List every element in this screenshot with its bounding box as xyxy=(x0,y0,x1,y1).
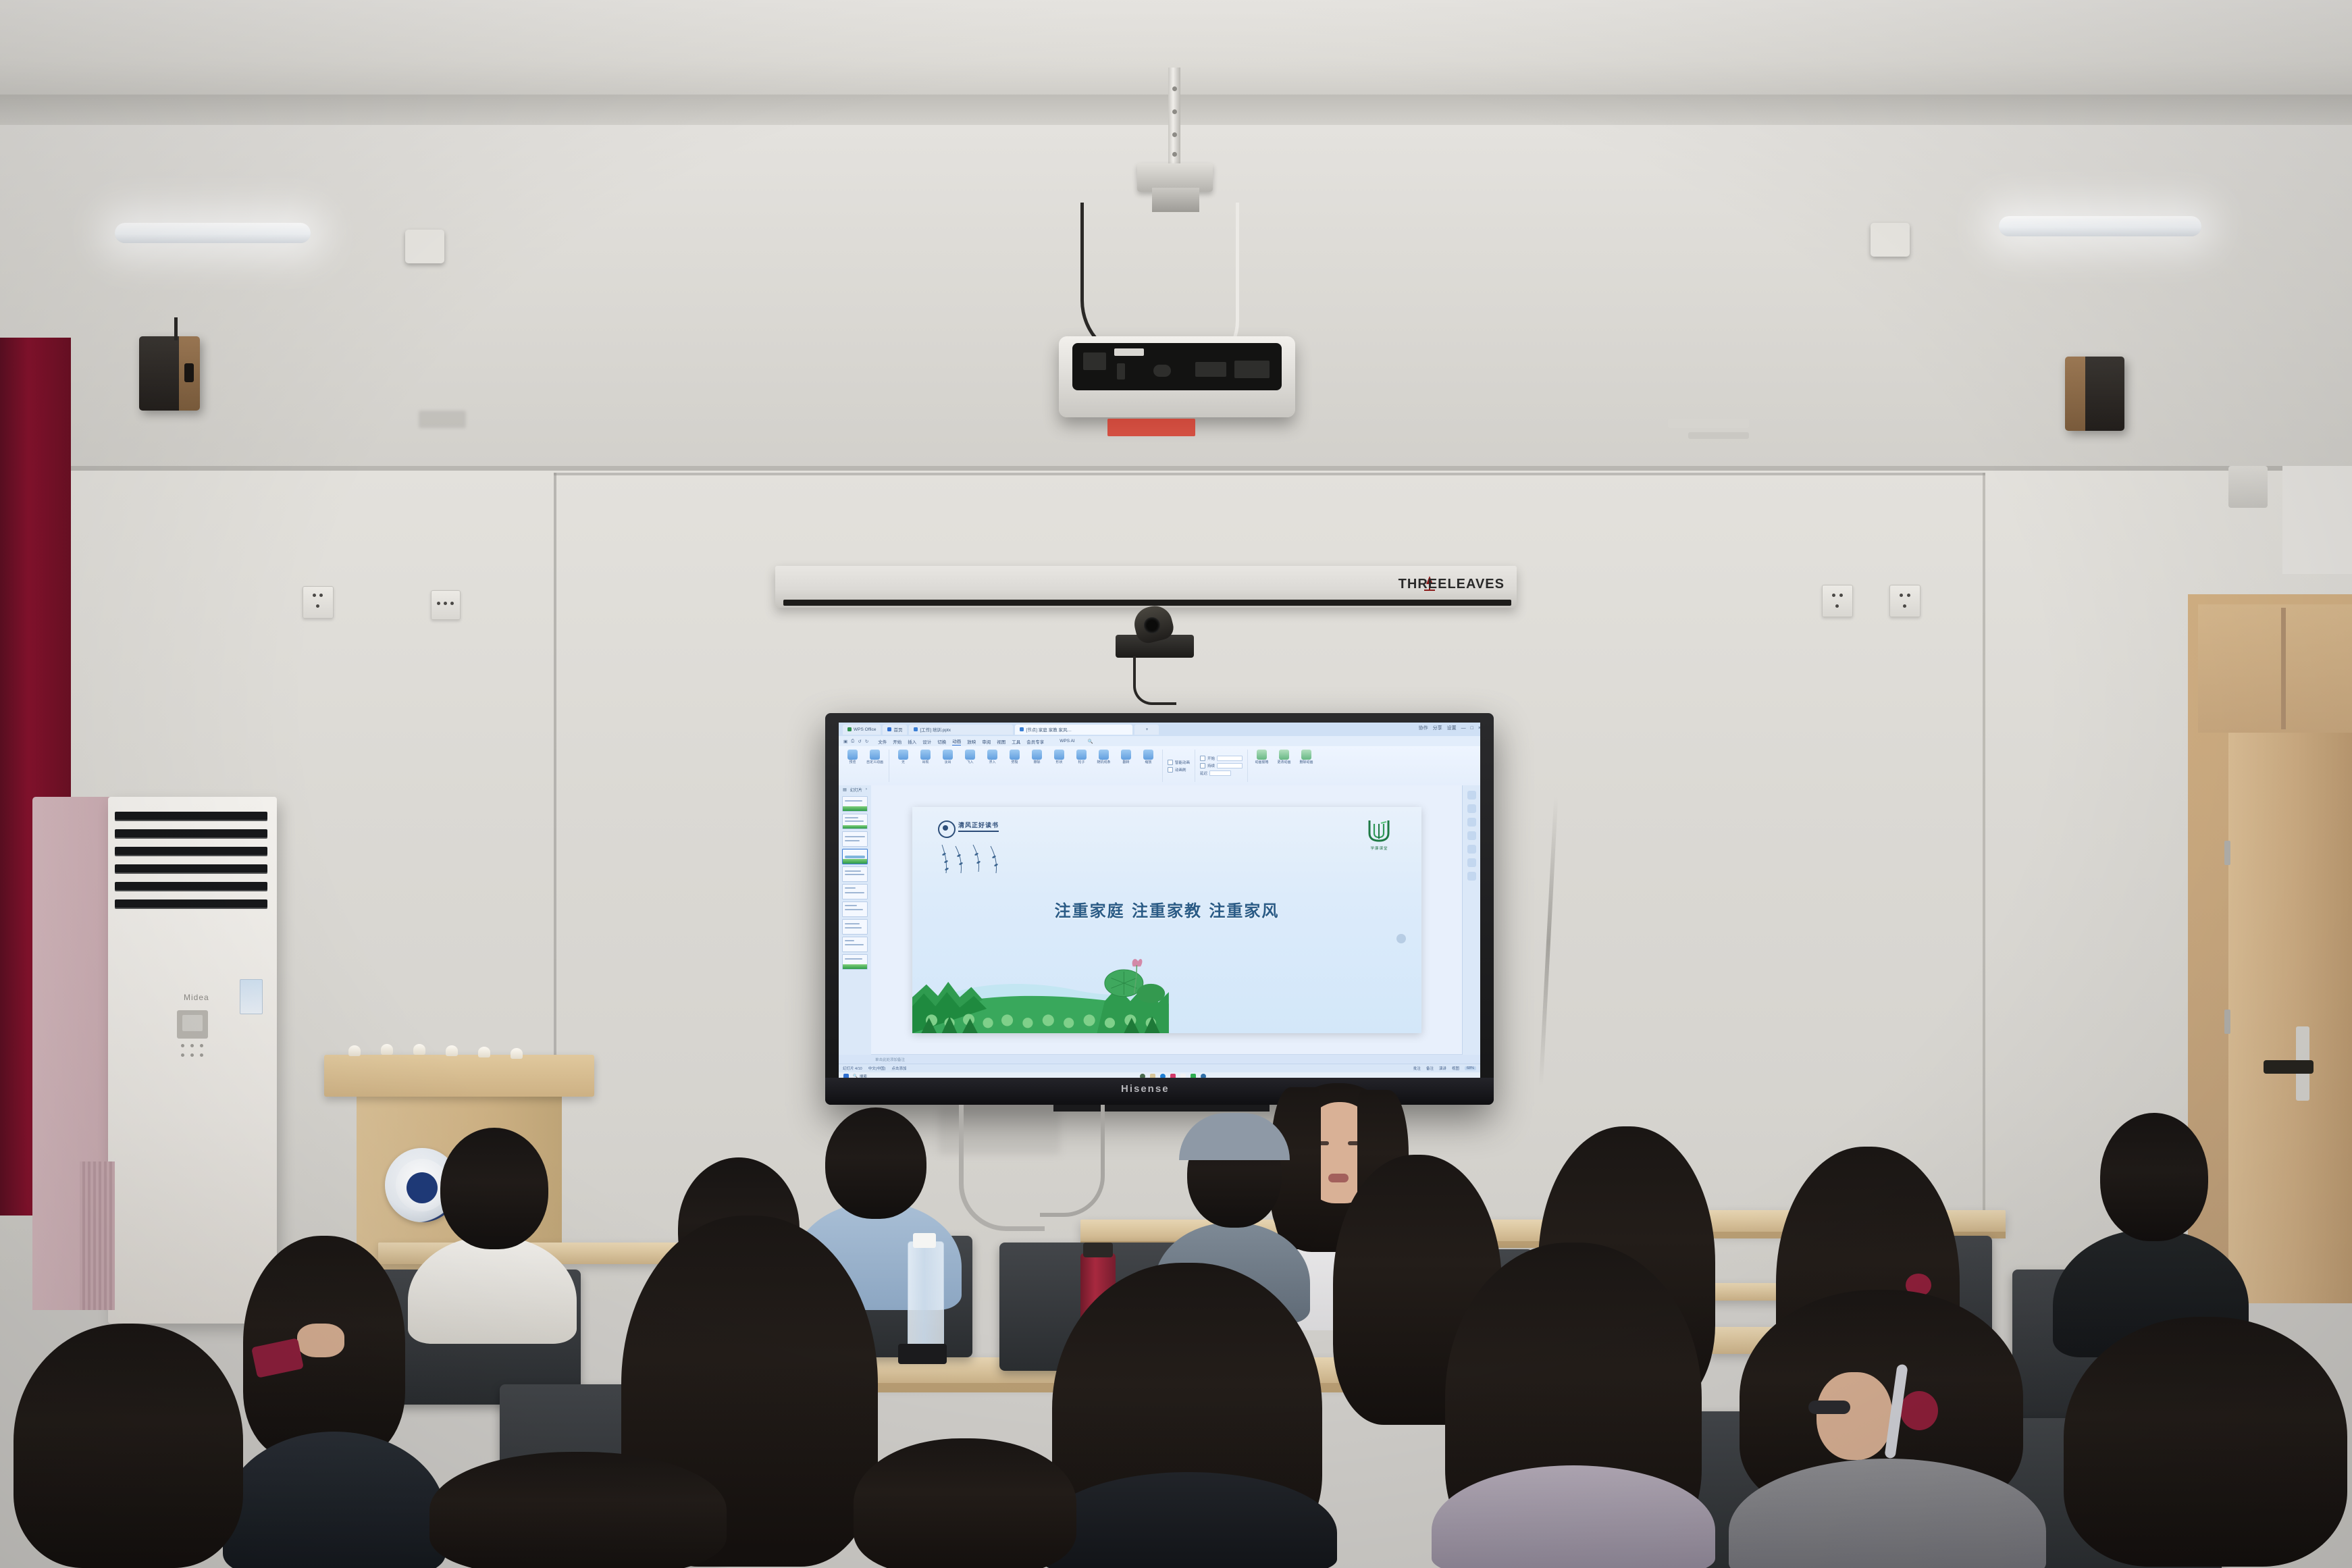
outline-icon[interactable]: ▤ xyxy=(843,787,847,792)
ac-button-temp-down[interactable] xyxy=(181,1053,184,1057)
willow-branches-icon xyxy=(938,843,1019,874)
floatin-icon xyxy=(987,750,997,760)
speaker-grille xyxy=(2085,357,2124,431)
slide-thumbnail-selected[interactable] xyxy=(842,849,868,864)
ribbon-label: 智能动画 xyxy=(1175,760,1190,765)
ribbon-label: 自定义动画 xyxy=(866,761,883,765)
ribbon-group-preview: 预览 自定义动画 xyxy=(843,750,889,782)
wps-tab-bar[interactable]: WPS Office 首页 [工作] 培训.pptx [节点] 家庭 家教 家风… xyxy=(839,723,1480,736)
ribbon-button-animation-pane[interactable]: 动画窗格 xyxy=(1253,750,1271,782)
ac-button-mode[interactable] xyxy=(190,1044,194,1047)
checkbox-icon[interactable] xyxy=(1168,760,1173,765)
notes-pane[interactable]: 单击此处添加备注 xyxy=(871,1054,1463,1064)
ribbon-label: 形状 xyxy=(1055,761,1062,765)
door-hinge-bottom xyxy=(2224,1010,2230,1034)
cloud-panel-icon[interactable] xyxy=(1467,872,1476,881)
slide-thumbnail[interactable] xyxy=(842,919,868,935)
ribbon-button-change-animation[interactable]: 更改动画 xyxy=(1275,750,1293,782)
lectern-knob xyxy=(413,1044,425,1055)
current-slide[interactable]: 清风正好读书 xyxy=(912,807,1421,1033)
ribbon-check-smart-animation[interactable]: 智能动画 xyxy=(1168,760,1190,765)
dropdown-icon[interactable] xyxy=(1200,763,1205,768)
ceiling-light-right xyxy=(1999,216,2201,236)
student-front-row-4 xyxy=(844,1438,1087,1568)
bottle-cap xyxy=(913,1233,936,1248)
menu-item-view[interactable]: 视图 xyxy=(997,738,1005,745)
maximize-icon[interactable]: □ xyxy=(1471,726,1473,731)
student-front-row-0 xyxy=(0,1324,270,1568)
none-icon xyxy=(898,750,908,760)
chevron-right-icon[interactable]: › xyxy=(866,787,867,791)
ribbon-group-pane: 动画窗格 更改动画 删除动画 xyxy=(1253,750,1320,782)
ribbon-label: 飞入 xyxy=(966,761,973,765)
appear-icon xyxy=(920,750,931,760)
menu-item-slideshow[interactable]: 放映 xyxy=(967,738,976,745)
menu-item-design[interactable]: 设计 xyxy=(922,738,931,745)
ceiling-sensor-right xyxy=(1871,223,1910,257)
shapes-panel-icon[interactable] xyxy=(1467,845,1476,854)
flyin-icon xyxy=(965,750,975,760)
lectern-knob xyxy=(381,1044,393,1055)
slide-title: 注重家庭 注重家教 注重家风 xyxy=(912,897,1421,921)
ceiling-sensor-left xyxy=(405,230,444,263)
delete-animation-icon xyxy=(1301,750,1311,760)
search-icon[interactable]: 🔍 xyxy=(1088,739,1093,744)
lectern-knob xyxy=(511,1048,523,1059)
student-head xyxy=(825,1107,926,1219)
student-hair xyxy=(2064,1317,2347,1567)
display-brand-label: Hisense xyxy=(1121,1083,1170,1095)
menu-item-start[interactable]: 开始 xyxy=(893,738,901,745)
wall-outlet-2[interactable] xyxy=(431,590,461,620)
ac-button-temp-up[interactable] xyxy=(190,1053,194,1057)
ribbon-label: 轮子 xyxy=(1078,761,1084,765)
ribbon-label: 劈裂 xyxy=(1011,761,1018,765)
ribbon-button-shape[interactable]: 形状 xyxy=(1050,750,1068,782)
slide-thumbnail[interactable] xyxy=(842,796,868,812)
projector-warning-label xyxy=(1107,419,1195,436)
slide-panel-label: 幻灯片 xyxy=(850,787,862,793)
ribbon-button-flip[interactable]: 翻转 xyxy=(1117,750,1135,782)
flip-icon xyxy=(1121,750,1131,760)
ac-button-power[interactable] xyxy=(181,1044,184,1047)
ribbon-label: 预览 xyxy=(849,761,856,765)
wps-menu-bar[interactable]: ▣ ⎙ ↺ ↻ 文件 开始 插入 设计 切换 动画 放映 审阅 视图 工具 会员… xyxy=(839,736,1480,746)
door-hinge-top xyxy=(2224,841,2230,865)
wps-tab-label: [工作] 培训.pptx xyxy=(920,726,951,733)
slide-panel-header: ▤ 幻灯片 › xyxy=(839,785,871,793)
split-icon xyxy=(1010,750,1020,760)
ribbon-label: 延迟 xyxy=(1200,770,1207,776)
ribbon-button-split[interactable]: 劈裂 xyxy=(1005,750,1024,782)
wps-window-controls[interactable]: 协作 分享 设置 — □ × xyxy=(1419,725,1480,731)
student-face xyxy=(297,1324,344,1357)
speaker-wood-side xyxy=(2065,357,2085,431)
lectern-knob xyxy=(348,1045,361,1056)
ribbon-label: 淡出 xyxy=(944,761,951,765)
ribbon-group-effects: 无 出现 淡出 飞入 浮入 劈裂 擦除 形状 轮子 随机线条 翻转 缩放 xyxy=(894,750,1163,782)
wps-home-tab[interactable]: WPS Office xyxy=(843,725,881,735)
lectern-knob xyxy=(446,1045,458,1056)
ribbon-button-wipe[interactable]: 擦除 xyxy=(1028,750,1046,782)
slide-editing-stage[interactable]: 清风正好读书 xyxy=(871,785,1463,1055)
zoom-effect-icon xyxy=(1143,750,1153,760)
ribbon-label: 浮入 xyxy=(989,761,995,765)
slide-logo-text: 清风正好读书 xyxy=(958,820,999,829)
ac-brand-label: Midea xyxy=(184,993,209,1002)
wall-speaker-right xyxy=(2065,357,2124,431)
slide-thumbnail[interactable] xyxy=(842,954,868,970)
chart-panel-icon[interactable] xyxy=(1467,831,1476,840)
ribbon-label: 随机线条 xyxy=(1097,761,1110,765)
menu-item-member[interactable]: 会员专享 xyxy=(1026,738,1044,745)
student-head xyxy=(440,1128,548,1249)
slide-logo-top-left: 清风正好读书 xyxy=(938,820,999,838)
ac-button-timer[interactable] xyxy=(200,1053,203,1057)
ribbon-field-duration[interactable]: 持续 xyxy=(1200,763,1243,768)
wall-outlet-4[interactable] xyxy=(1889,585,1920,617)
projector-port-panel xyxy=(1072,343,1282,390)
ac-button-fan[interactable] xyxy=(200,1044,203,1047)
lectern-knob xyxy=(478,1047,490,1057)
status-slide-counter: 幻灯片 4/10 xyxy=(843,1066,862,1071)
wps-tab-label: WPS Office xyxy=(854,727,876,732)
projector-mount-pole xyxy=(1168,68,1180,169)
slide-thumbnail[interactable] xyxy=(842,814,868,829)
slide-thumbnail[interactable] xyxy=(842,831,868,847)
speaker-port xyxy=(184,363,194,383)
logo-underline xyxy=(958,831,999,832)
ceiling-vent-right-2 xyxy=(1688,432,1749,439)
wps-tab-label: [节点] 家庭 家教 家风… xyxy=(1026,726,1072,733)
student-hair xyxy=(854,1438,1076,1568)
ribbon-field-start[interactable]: 开始 xyxy=(1200,756,1243,761)
wheel-icon xyxy=(1076,750,1087,760)
settings-icon[interactable]: 设置 xyxy=(1447,725,1457,731)
slide-logo-caption: 学廉课堂 xyxy=(1367,845,1390,851)
animation-pane-icon xyxy=(1257,750,1267,760)
menu-item-tools[interactable]: 工具 xyxy=(1012,738,1020,745)
thermos-lid xyxy=(1083,1243,1113,1257)
plus-icon: + xyxy=(1146,727,1149,732)
ribbon-label: 更改动画 xyxy=(1278,761,1291,765)
ac-display-screen xyxy=(182,1015,203,1031)
ac-energy-label xyxy=(240,979,263,1014)
fade-icon xyxy=(943,750,953,760)
ribbon-label: 出现 xyxy=(922,761,929,765)
ribbon-button-preview[interactable]: 预览 xyxy=(843,750,862,782)
wipe-icon xyxy=(1032,750,1042,760)
wall-mark xyxy=(419,411,466,428)
wps-tab-1[interactable]: 首页 xyxy=(883,725,907,735)
ribbon-label: 无 xyxy=(901,761,905,765)
design-panel-icon[interactable] xyxy=(1467,804,1476,813)
student-hair xyxy=(14,1324,243,1568)
wps-new-tab-button[interactable]: + xyxy=(1134,725,1159,735)
redo-icon[interactable]: ↻ xyxy=(865,739,868,744)
ribbon-button-zoom[interactable]: 缩放 xyxy=(1139,750,1157,782)
wps-tab-label: 首页 xyxy=(893,726,902,733)
wall-outlet-1[interactable] xyxy=(303,586,334,619)
ribbon-group-smart: 智能动画 动画刷 xyxy=(1168,750,1195,782)
ribbon-button-random-bars[interactable]: 随机线条 xyxy=(1095,750,1113,782)
custom-animation-icon xyxy=(870,750,880,760)
minimize-icon[interactable]: — xyxy=(1461,726,1466,731)
door-handle[interactable] xyxy=(2264,1060,2314,1074)
slide-thumbnail[interactable] xyxy=(842,884,868,899)
student-hair xyxy=(429,1452,727,1568)
ceiling-light-left xyxy=(115,223,311,243)
ribbon-group-timing: 开始 持续 延迟 xyxy=(1200,750,1248,782)
open-book-logo-icon xyxy=(1367,818,1390,843)
calligraphy-seal-icon xyxy=(938,820,956,838)
classroom-photo: THREELEAVES WPS Office 首页 [工作] 培训.pptx xyxy=(0,0,2352,1568)
ac-side-vent xyxy=(80,1161,115,1310)
ribbon-button-floatin[interactable]: 浮入 xyxy=(983,750,1001,782)
notes-placeholder: 单击此处添加备注 xyxy=(875,1057,905,1062)
save-icon[interactable]: ▣ xyxy=(843,739,847,744)
student-face xyxy=(1817,1372,1892,1460)
ceiling-vent-right xyxy=(1668,419,1749,428)
eyeglasses-icon xyxy=(1808,1401,1850,1414)
student-front-row-8 xyxy=(419,1452,743,1568)
preview-icon xyxy=(847,750,858,760)
slide-thumbnail[interactable] xyxy=(842,937,868,952)
slide-thumbnail[interactable] xyxy=(842,866,868,882)
print-icon[interactable]: ⎙ xyxy=(851,739,854,744)
ribbon-button-none[interactable]: 无 xyxy=(894,750,912,782)
ribbon-button-fade[interactable]: 淡出 xyxy=(939,750,957,782)
shape-icon xyxy=(1054,750,1064,760)
collab-icon[interactable]: 协作 xyxy=(1419,725,1428,731)
wall-seam xyxy=(554,473,1985,475)
ribbon-field-delay[interactable]: 延迟 xyxy=(1200,770,1243,776)
door-transom xyxy=(2198,604,2352,733)
wall-outlet-3[interactable] xyxy=(1822,585,1853,617)
speaker-grille xyxy=(139,336,180,411)
ribbon-label: 擦除 xyxy=(1033,761,1040,765)
landscape-illustration xyxy=(912,956,1169,1033)
wps-logo-icon xyxy=(847,727,852,731)
ribbon-check-animation-brush[interactable]: 动画刷 xyxy=(1168,767,1190,773)
doc-icon xyxy=(887,727,891,731)
ribbon-label: 缩放 xyxy=(1145,761,1151,765)
student-front-row-7 xyxy=(2053,1317,2352,1568)
ribbon-label: 翻转 xyxy=(1122,761,1129,765)
menu-item-wps-ai[interactable]: WPS AI xyxy=(1060,739,1074,743)
ribbon-label: 动画窗格 xyxy=(1255,761,1269,765)
wps-tab-2[interactable]: [工作] 培训.pptx xyxy=(909,725,1013,735)
ribbon-label: 动画刷 xyxy=(1175,767,1186,773)
status-hint: 点击添加 xyxy=(891,1066,906,1071)
undo-icon[interactable]: ↺ xyxy=(858,739,861,744)
ribbon-button-wheel[interactable]: 轮子 xyxy=(1072,750,1091,782)
ppt-icon xyxy=(914,727,918,731)
smartphone[interactable] xyxy=(898,1344,947,1364)
wall-speaker-left xyxy=(139,336,200,411)
student-back-row-right xyxy=(2053,1101,2249,1317)
status-language[interactable]: 中文(中国) xyxy=(868,1066,886,1071)
transom-mullion xyxy=(2281,608,2286,729)
screen-slot xyxy=(783,600,1511,606)
student-front-row-6 xyxy=(1729,1290,2046,1568)
camera-cable xyxy=(1133,656,1176,705)
ribbon-button-delete-animation[interactable]: 删除动画 xyxy=(1297,750,1315,782)
change-animation-icon xyxy=(1279,750,1289,760)
slide-logo-top-right: 学廉课堂 xyxy=(1367,818,1390,851)
wall-sensor-right xyxy=(2228,466,2268,508)
ribbon-button-custom-animation[interactable]: 自定义动画 xyxy=(866,750,884,782)
random-bars-icon xyxy=(1099,750,1109,760)
ppt-icon xyxy=(1020,727,1024,731)
share-icon[interactable]: 分享 xyxy=(1433,725,1442,731)
display-cable-right xyxy=(1040,1105,1105,1217)
student-head xyxy=(2100,1113,2208,1241)
water-bottle[interactable] xyxy=(908,1241,944,1351)
ribbon-button-appear[interactable]: 出现 xyxy=(916,750,935,782)
slide-watermark xyxy=(1396,934,1406,943)
media-panel-icon[interactable] xyxy=(1467,818,1476,827)
quick-access-toolbar[interactable]: ▣ ⎙ ↺ ↻ xyxy=(843,739,868,744)
display-screen[interactable]: WPS Office 首页 [工作] 培训.pptx [节点] 家庭 家教 家风… xyxy=(839,723,1480,1080)
menu-item-transition[interactable]: 切换 xyxy=(937,738,946,745)
screen-case-brand: THREELEAVES xyxy=(1399,577,1505,592)
student-cap xyxy=(1179,1113,1290,1160)
wps-office-window[interactable]: WPS Office 首页 [工作] 培训.pptx [节点] 家庭 家教 家风… xyxy=(839,723,1480,1080)
ribbon-label: 持续 xyxy=(1207,763,1215,768)
dropdown-icon[interactable] xyxy=(1200,756,1205,761)
menu-item-animation[interactable]: 动画 xyxy=(952,737,961,746)
format-panel-icon[interactable] xyxy=(1467,791,1476,800)
camera-lens-icon xyxy=(1144,617,1160,633)
menu-item-file[interactable]: 文件 xyxy=(878,738,887,745)
slide-thumbnail[interactable] xyxy=(842,901,868,917)
ribbon-label: 删除动画 xyxy=(1300,761,1313,765)
wall-seam xyxy=(1983,473,1985,1216)
ribbon-label: 开始 xyxy=(1207,756,1215,761)
close-icon[interactable]: × xyxy=(1478,726,1480,731)
right-wall-panel xyxy=(2282,466,2352,574)
checkbox-icon[interactable] xyxy=(1168,767,1173,773)
hair-clip xyxy=(1900,1391,1938,1430)
student-front-row-5 xyxy=(1432,1243,1715,1568)
slide-thumbnail-panel[interactable]: ▤ 幻灯片 › xyxy=(839,785,872,1055)
ribbon-button-flyin[interactable]: 飞入 xyxy=(961,750,979,782)
lectern-top xyxy=(324,1055,594,1097)
speaker-cable-left xyxy=(174,317,178,340)
right-tool-sidebar[interactable] xyxy=(1462,785,1480,1055)
wps-tab-3-active[interactable]: [节点] 家庭 家教 家风… xyxy=(1015,725,1132,735)
animation-panel-icon[interactable] xyxy=(1467,858,1476,867)
menu-item-insert[interactable]: 插入 xyxy=(908,738,916,745)
menu-item-review[interactable]: 审阅 xyxy=(982,738,991,745)
